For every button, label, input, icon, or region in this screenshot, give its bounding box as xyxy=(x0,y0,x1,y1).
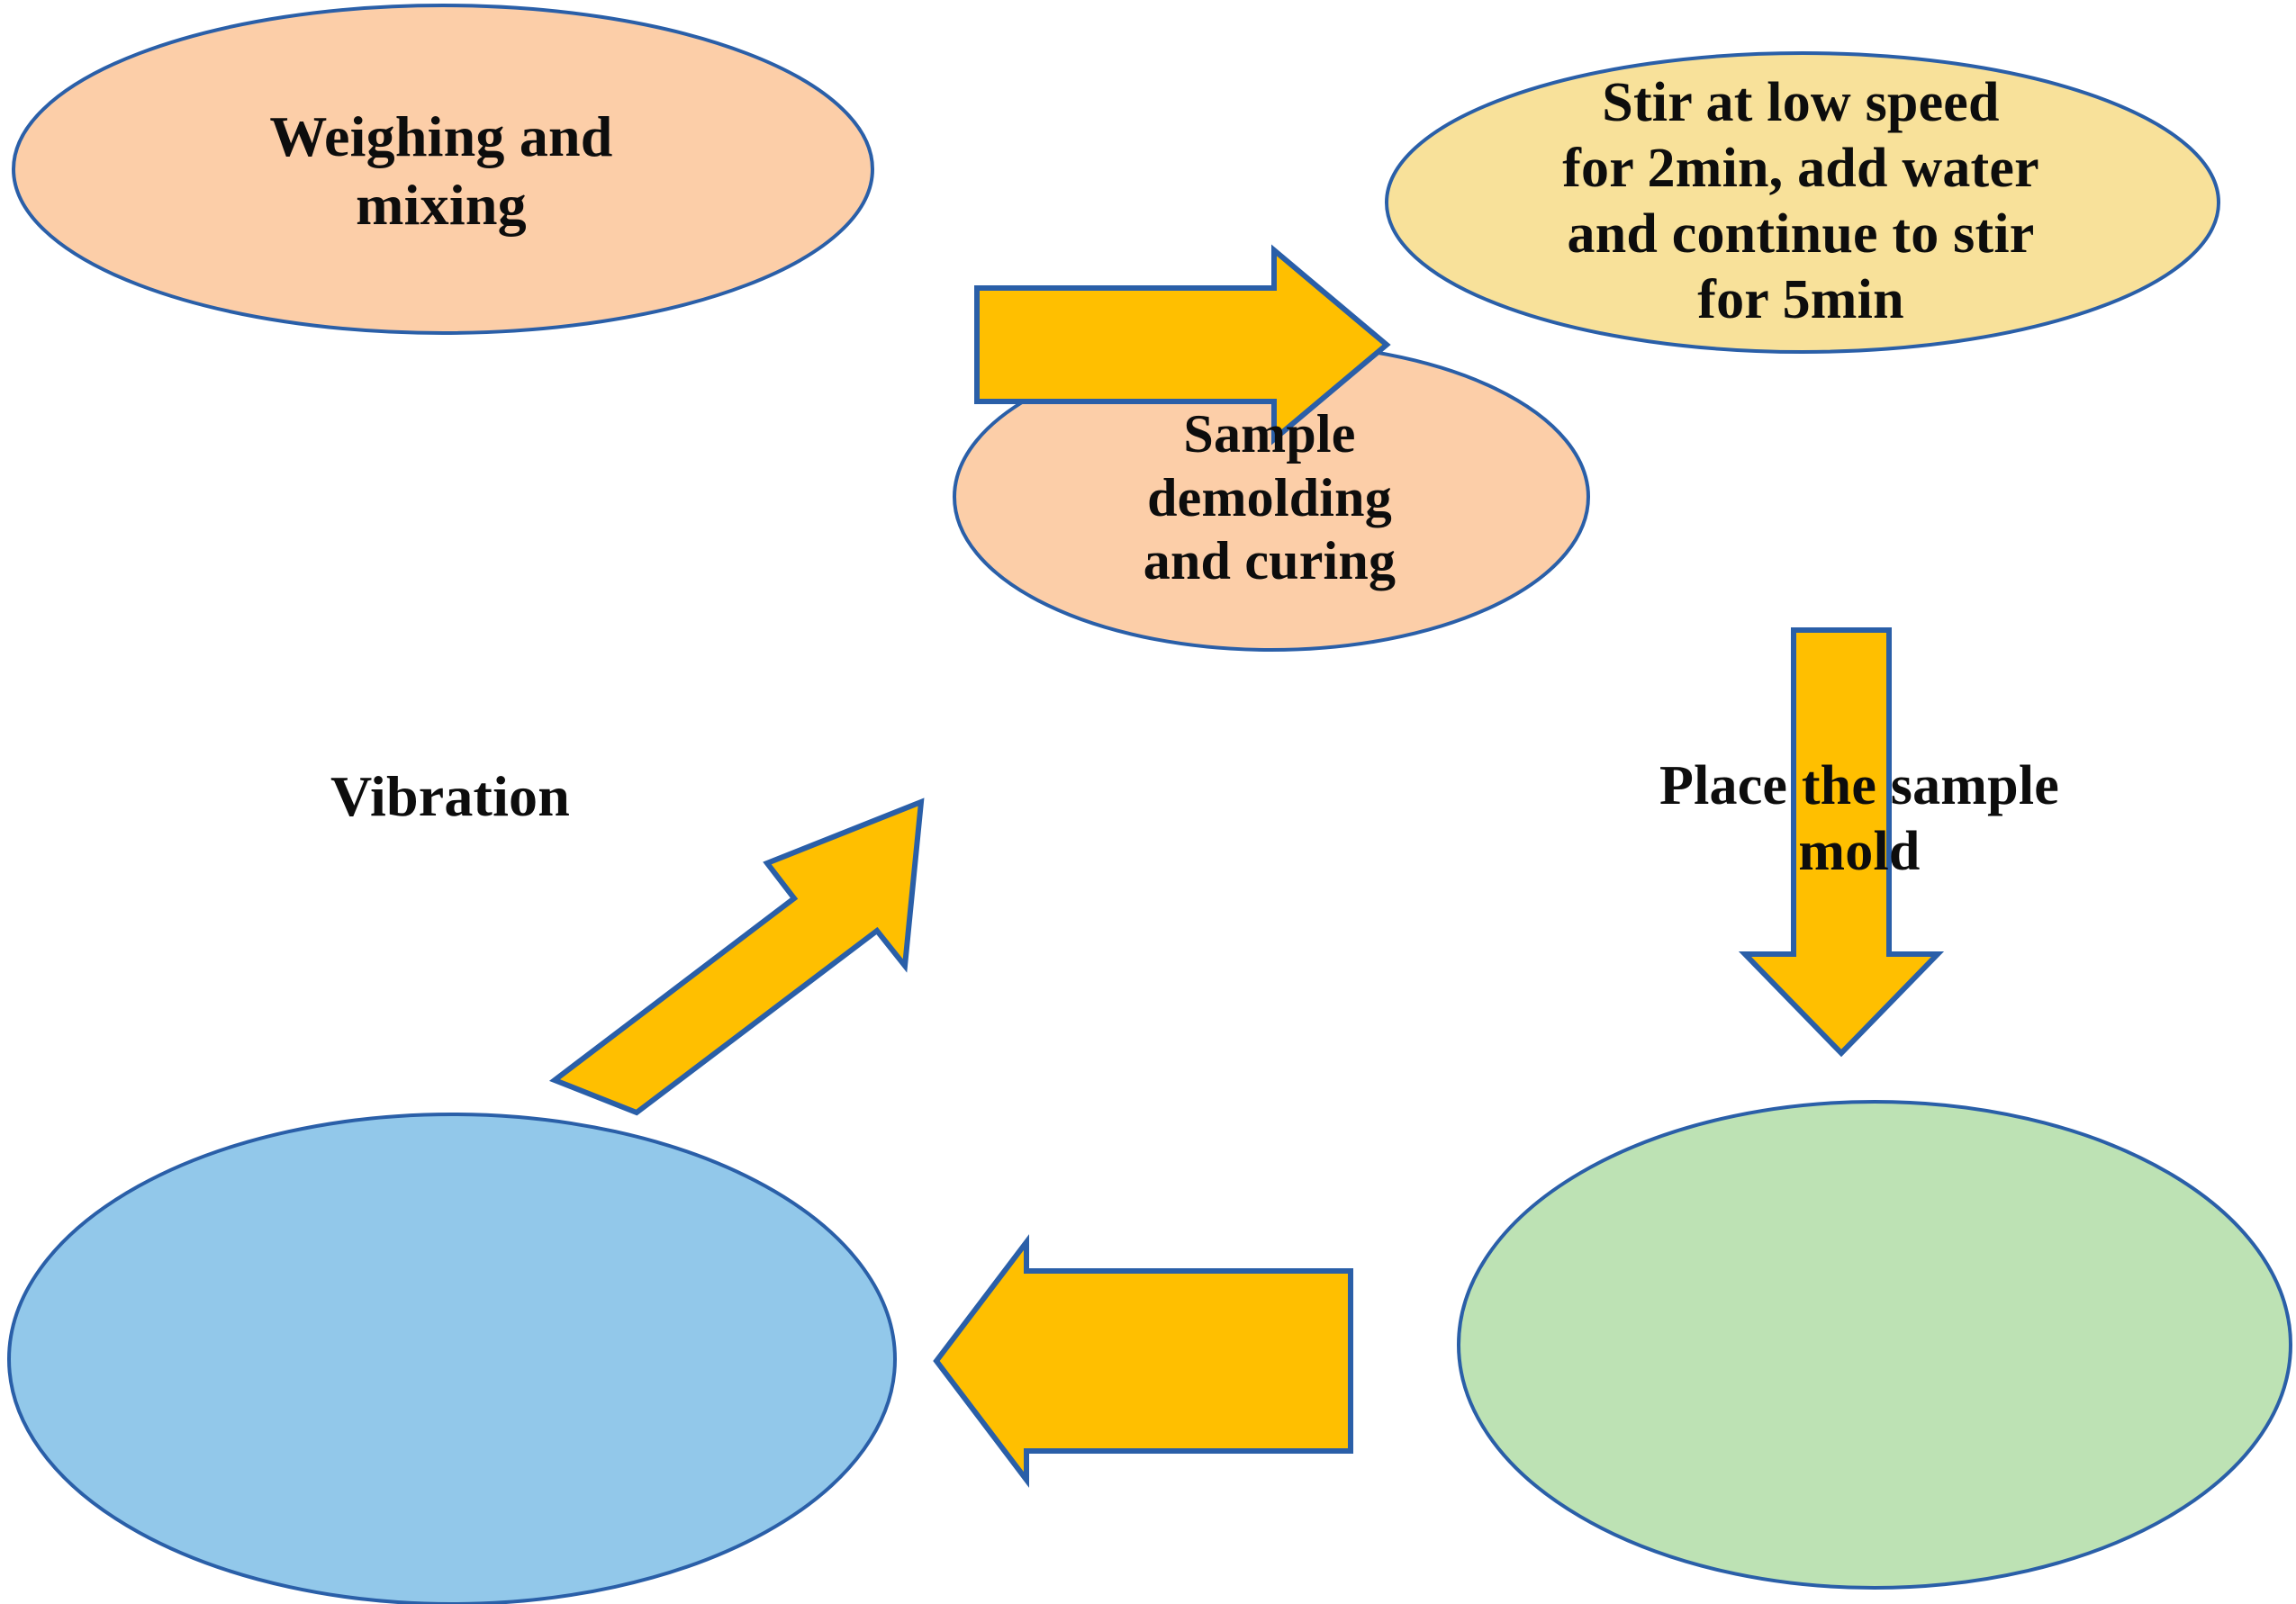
flowchart-canvas: Weighing and mixing Stir at low speed fo… xyxy=(0,0,2296,1604)
arrow-mold-to-vibration-icon xyxy=(936,1242,1351,1480)
arrow-stir-to-mold-icon xyxy=(1745,630,1938,1053)
arrow-vibration-to-demolding-icon xyxy=(555,802,921,1113)
flowchart-graphics xyxy=(0,0,2296,1604)
node-stir-at-low-speed[interactable] xyxy=(1387,53,2219,352)
node-place-the-sample-mold[interactable] xyxy=(1459,1102,2291,1588)
node-weighing-and-mixing[interactable] xyxy=(14,5,872,333)
node-vibration[interactable] xyxy=(9,1114,895,1604)
